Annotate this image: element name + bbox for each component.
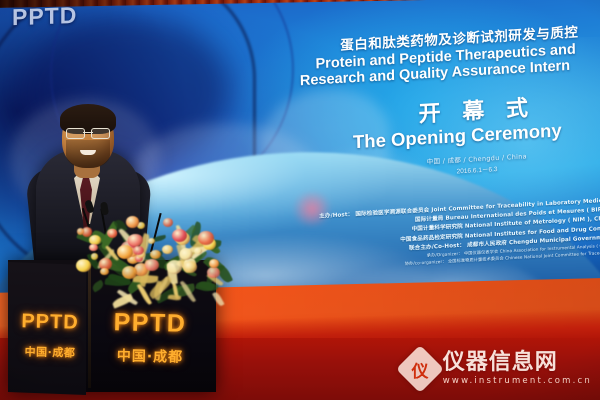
flower-bloom <box>100 268 109 276</box>
flower-leaf <box>91 279 106 292</box>
eyeglasses-icon <box>66 128 110 138</box>
flower-bloom <box>162 245 173 255</box>
flower-bloom <box>183 261 197 274</box>
screen-title-block: 蛋白和肽类药物及诊断试剂研发与质控 Protein and Peptide Th… <box>280 19 600 186</box>
watermark-site-name: 仪器信息网 <box>443 352 592 374</box>
instrument-logo-icon: 仪 <box>396 345 444 393</box>
site-watermark: 仪 仪器信息网 www.instrument.com.cn <box>403 352 592 386</box>
flower-bloom <box>145 259 159 271</box>
speaker-mouth <box>80 150 96 155</box>
flower-bloom <box>117 245 133 259</box>
flower-bloom <box>180 249 193 260</box>
flower-bloom <box>77 228 84 235</box>
podium-sign-left-subtext: 中国·成都 <box>14 343 86 361</box>
photo-canvas: PPTD 蛋白和肽类药物及诊断试剂研发与质控 Protein and Pepti… <box>0 0 600 400</box>
podium-sign-right-text: PPTD <box>96 308 205 339</box>
flower-bloom <box>128 234 143 247</box>
flower-bloom <box>76 259 91 272</box>
podium-sign-left-text: PPTD <box>14 310 87 335</box>
flower-bloom <box>122 266 137 279</box>
watermark-url: www.instrument.com.cn <box>443 377 592 386</box>
flower-bloom <box>89 244 97 251</box>
flower-bloom <box>126 216 139 227</box>
flower-bloom <box>91 253 98 259</box>
flower-bloom <box>198 231 214 245</box>
flower-bloom <box>194 248 202 255</box>
flower-bloom <box>167 260 182 274</box>
logo-mark-glyph: 仪 <box>403 352 437 386</box>
flower-bloom <box>209 259 219 268</box>
flower-bloom <box>163 218 173 227</box>
podium-sign-right-subtext: 中国·成都 <box>96 345 204 367</box>
flower-bloom <box>108 229 117 237</box>
flower-arrangement <box>72 214 232 300</box>
flower-bloom <box>150 250 161 260</box>
flower-bloom <box>148 238 155 244</box>
flower-bloom <box>207 267 220 278</box>
